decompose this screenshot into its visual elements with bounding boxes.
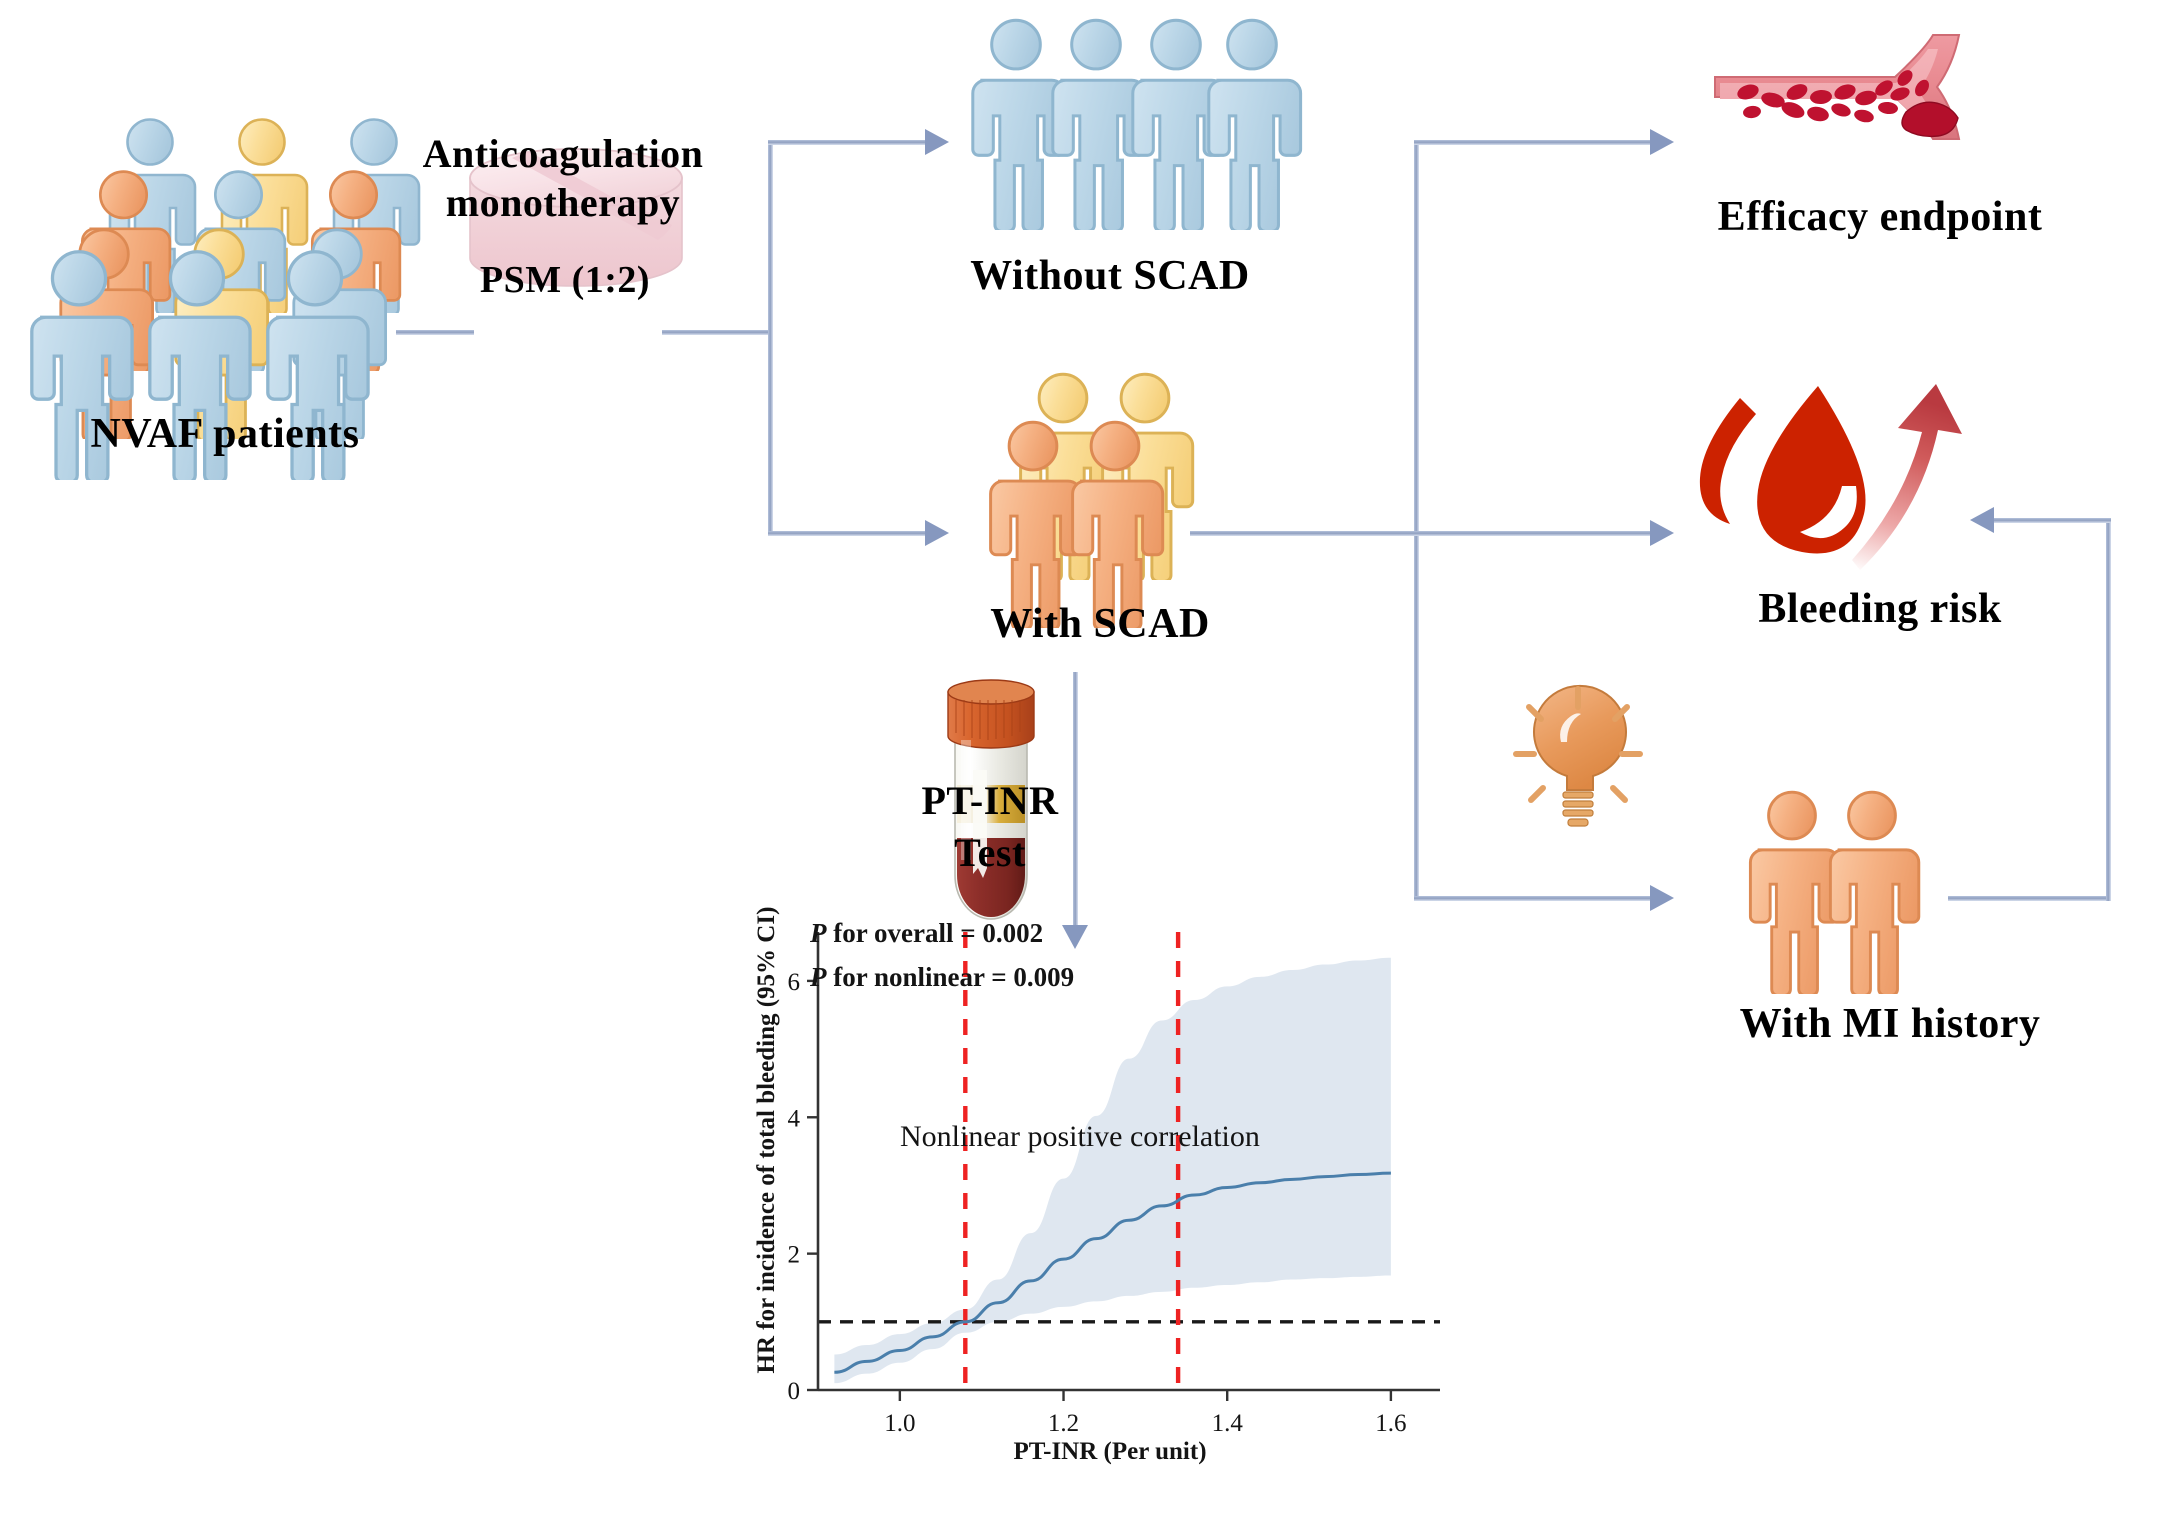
people-blue-icon (973, 20, 1301, 231)
p-italic-nonlinear: P (810, 962, 827, 992)
people-orange-yellow-icon (991, 374, 1193, 629)
arrowhead-efficacy (1650, 129, 1674, 155)
connector-to-bleeding (1414, 531, 1654, 536)
people-orange-pair-icon (1750, 792, 1918, 995)
label-psm-ratio: PSM (1:2) (430, 258, 700, 302)
y-tick-label: 0 (788, 1378, 801, 1405)
restricted-cubic-spline-chart: 02461.01.21.41.6 HR for incidence of tot… (760, 930, 1460, 1470)
label-pt-inr-test: PT-INR Test (880, 775, 1100, 879)
arrowhead-mi-history (1650, 885, 1674, 911)
connector-to-efficacy (1414, 140, 1654, 145)
label-pt-inr-line2: Test (880, 827, 1100, 879)
connector-treatment-to-split (662, 330, 772, 335)
label-nvaf-patients: NVAF patients (30, 410, 420, 458)
label-efficacy-endpoint: Efficacy endpoint (1690, 193, 2070, 241)
ci-band (834, 958, 1391, 1383)
connector-to-mi-history (1414, 896, 1654, 901)
annotation-p-nonlinear: P for nonlinear = 0.009 (810, 962, 1074, 993)
label-anticoagulation-monotherapy: Anticoagulation monotherapy (398, 130, 728, 228)
connector-split-vertical (768, 140, 773, 536)
x-tick-label: 1.2 (1048, 1410, 1079, 1437)
connector-to-without-scad (768, 140, 928, 145)
x-tick-label: 1.0 (884, 1410, 915, 1437)
annotation-p-overall: P for overall = 0.002 (810, 918, 1043, 949)
connector-mi-return-right (2106, 518, 2111, 901)
arrowhead-mi-return (1970, 507, 1994, 533)
blood-vessel-thrombus-icon (1715, 35, 1959, 139)
chart-x-axis-label: PT-INR (Per unit) (760, 1438, 1460, 1466)
connector-mi-return-top (1992, 518, 2111, 523)
blood-drops-rising-arrow-icon (1700, 384, 1962, 570)
diagram-canvas: NVAF patients Anticoagulation monotherap… (0, 0, 2184, 1526)
label-with-mi-history: With MI history (1700, 1000, 2080, 1048)
p-italic-overall: P (810, 918, 827, 948)
p-nonlinear-text: for nonlinear = 0.009 (827, 962, 1075, 992)
chart-plot-area: 02461.01.21.41.6 (760, 930, 1460, 1470)
chart-y-axis-label: HR for incidence of total bleeding (95% … (753, 905, 781, 1375)
label-pt-inr-line1: PT-INR (880, 775, 1100, 827)
y-tick-label: 6 (788, 969, 801, 996)
y-tick-label: 4 (788, 1105, 801, 1132)
arrowhead-bleeding (1650, 520, 1674, 546)
label-bleeding-risk: Bleeding risk (1710, 585, 2050, 633)
arrowhead-without-scad (925, 129, 949, 155)
connector-mi-return-bottom (1948, 896, 2110, 901)
connector-to-with-scad (768, 531, 928, 536)
connector-with-scad-to-rail (1190, 531, 1420, 536)
y-tick-label: 2 (788, 1242, 801, 1269)
annotation-trend-note: Nonlinear positive correlation (900, 1120, 1260, 1154)
connector-nvaf-to-treatment (396, 330, 474, 335)
arrowhead-with-scad (925, 520, 949, 546)
label-treatment-line1: Anticoagulation (398, 130, 728, 179)
x-tick-label: 1.4 (1212, 1410, 1244, 1437)
x-tick-label: 1.6 (1375, 1410, 1406, 1437)
label-without-scad: Without SCAD (940, 252, 1280, 300)
label-treatment-line2: monotherapy (398, 179, 728, 228)
label-with-scad: With SCAD (960, 600, 1240, 648)
p-overall-text: for overall = 0.002 (827, 918, 1044, 948)
lightbulb-icon (1516, 686, 1640, 826)
connector-right-rail (1414, 140, 1419, 900)
